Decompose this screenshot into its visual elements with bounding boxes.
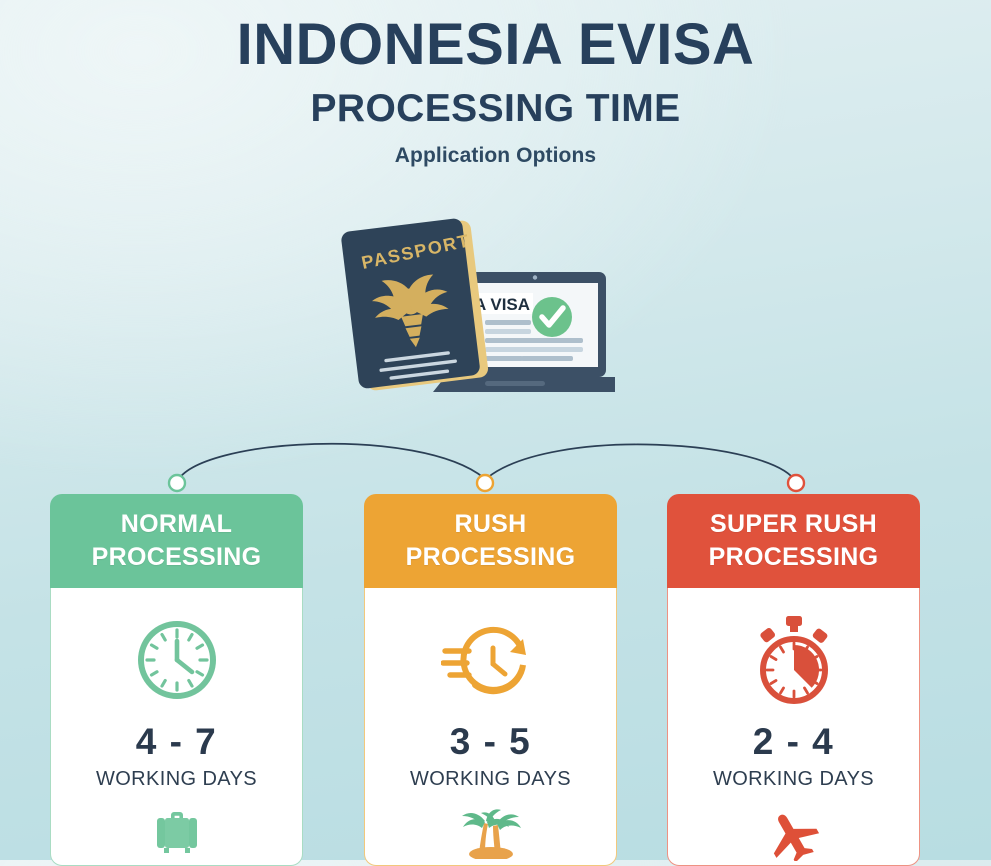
card-rush-processing[interactable]: RUSH PROCESSING [364,494,617,866]
infographic-canvas: INDONESIA EVISA PROCESSING TIME Applicat… [0,0,991,860]
page-subtitle: PROCESSING TIME [0,89,991,128]
connector-node-super-rush [788,475,804,491]
card-days-label: WORKING DAYS [713,769,874,789]
palm-tree-icon [460,809,522,865]
green-check-icon [532,297,572,337]
fast-clock-icon [441,612,541,707]
card-body-normal: 4 - 7 WORKING DAYS [50,588,303,866]
card-body-rush: 3 - 5 WORKING DAYS [364,588,617,866]
card-normal-processing[interactable]: NORMAL PROCESSING [50,494,303,866]
card-title-line1: NORMAL [121,510,233,538]
page-title: INDONESIA EVISA [0,16,991,74]
card-days-label: WORKING DAYS [96,769,257,789]
card-days-label: WORKING DAYS [410,769,571,789]
clock-icon [134,612,220,707]
card-title-line1: SUPER RUSH [710,510,877,538]
connector-arc-right [487,444,796,482]
card-title-line2: PROCESSING [406,543,576,571]
connector-node-rush [477,475,493,491]
card-title-line2: PROCESSING [92,543,262,571]
airplane-icon [765,809,823,865]
page-title-block: INDONESIA EVISA PROCESSING TIME Applicat… [0,16,991,166]
screen-visa-label: A VISA [474,295,530,314]
stopwatch-icon [749,612,839,707]
card-super-rush-processing[interactable]: SUPER RUSH PROCESSING [667,494,920,866]
option-cards: NORMAL PROCESSING [0,494,991,860]
page-tagline: Application Options [0,145,991,166]
card-days-value: 2 - 4 [753,723,835,760]
hero-illustration: A VISA PASSPORT [335,215,615,410]
connector-node-normal [169,475,185,491]
card-header-normal: NORMAL PROCESSING [50,494,303,588]
card-days-value: 4 - 7 [136,723,218,760]
suitcase-icon [151,809,203,865]
connector-arc-left [177,444,484,482]
card-days-value: 3 - 5 [450,723,532,760]
card-header-super-rush: SUPER RUSH PROCESSING [667,494,920,588]
card-title-line2: PROCESSING [709,543,879,571]
connector-lines [0,418,991,498]
passport-icon: PASSPORT [340,217,489,393]
card-body-super-rush: 2 - 4 WORKING DAYS [667,588,920,866]
card-title-line1: RUSH [454,510,526,538]
card-header-rush: RUSH PROCESSING [364,494,617,588]
